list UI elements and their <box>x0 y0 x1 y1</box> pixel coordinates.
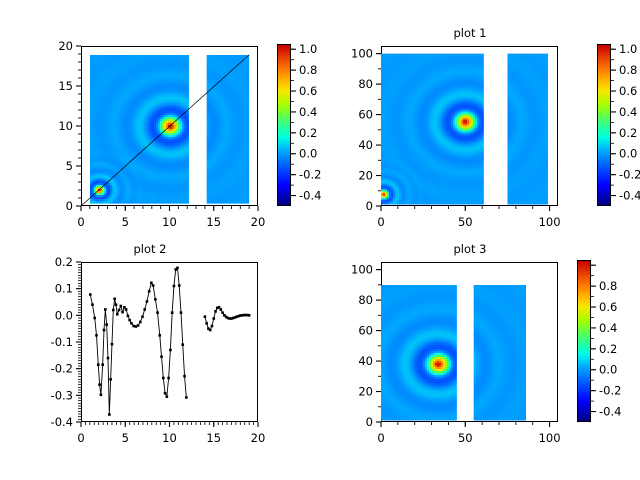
plot-0-xticklabel: 0 <box>77 215 84 229</box>
figure-canvas: 05101520051015201.00.80.60.40.20.0-0.2-0… <box>0 0 640 480</box>
plot-0-yticklabel: 0 <box>66 199 73 213</box>
plot-2-yticklabel: 0.0 <box>55 308 73 322</box>
plot-3-colorbar-label: -0.2 <box>599 384 621 398</box>
plot-1-colorbar-label: 0.8 <box>619 63 637 77</box>
plot-2-marker <box>169 349 172 352</box>
plot-1-colorbar-label: 0.6 <box>619 84 637 98</box>
plot-2-marker <box>91 303 94 306</box>
plot-3-yticklabel: 20 <box>358 385 373 399</box>
plot-2-marker <box>183 375 186 378</box>
plot-3-colorbar-label: 0.4 <box>599 321 617 335</box>
plot-2-marker <box>160 355 163 358</box>
plot-0-colorbar-label: 0.8 <box>299 63 317 77</box>
plot-3-colorbar-ticks: 0.80.60.40.20.0-0.2-0.4 <box>591 265 621 418</box>
plot-2-marker <box>178 284 181 287</box>
plot-2-marker <box>127 315 130 318</box>
plot-2-marker <box>166 395 169 398</box>
plot-2-marker <box>158 334 161 337</box>
plot-0-image <box>90 55 251 205</box>
plot-2-marker <box>167 377 170 380</box>
plot-1-image-panel <box>381 54 485 206</box>
plot-2-marker <box>214 310 217 313</box>
plot-2-marker <box>221 311 224 314</box>
plot-3-colorbar-label: 0.2 <box>599 342 617 356</box>
plot-1-xticklabel: 100 <box>539 215 561 229</box>
plot-2-marker <box>98 383 101 386</box>
plot-2-marker <box>97 363 100 366</box>
plot-2-marker <box>141 315 144 318</box>
plot-2-marker <box>130 322 133 325</box>
plot-1-image-panel <box>507 54 549 206</box>
plot-2-marker <box>148 290 151 293</box>
plot-2-ticks: 051015200.20.10.0-0.1-0.2-0.3-0.4 <box>51 255 266 445</box>
plot-2-marker <box>146 300 149 303</box>
plot-2-xticklabel: 5 <box>122 431 129 445</box>
plot-1-yticklabel: 60 <box>358 108 373 122</box>
plot-2-marker <box>211 325 214 328</box>
plot-2-marker <box>111 343 114 346</box>
plot-2-marker <box>115 303 118 306</box>
plot-2-yticklabel: 0.1 <box>55 282 73 296</box>
plot-2-marker <box>204 315 207 318</box>
plot-2-marker <box>154 298 157 301</box>
plot-3-xticklabel: 100 <box>539 431 561 445</box>
plot-1-yticklabel: 40 <box>358 138 373 152</box>
plot-0-colorbar-label: 0.2 <box>299 126 317 140</box>
plot-0-image-panel <box>90 55 190 205</box>
plot-0-xticklabel: 20 <box>251 215 266 229</box>
plot-0-xticklabel: 15 <box>206 215 221 229</box>
plot-2-yticklabel: 0.2 <box>55 255 73 269</box>
plot-0-colorbar-label: 1.0 <box>299 42 317 56</box>
plot-2-xticklabel: 0 <box>77 431 84 445</box>
plot-1-yticklabel: 0 <box>366 199 373 213</box>
plot-2-marker <box>143 308 146 311</box>
plot-2-marker <box>100 394 103 397</box>
plot-2-marker <box>118 309 121 312</box>
plot-3-image-panel <box>381 285 457 421</box>
plot-1-yticklabel: 20 <box>358 169 373 183</box>
plot-2-marker <box>121 311 124 314</box>
plot-2-marker <box>108 413 111 416</box>
subplot-plot-2: plot 2 051015200.20.10.0-0.1-0.2-0.3-0.4 <box>0 240 320 480</box>
plot-0-colorbar-label: 0.0 <box>299 147 317 161</box>
plot-1-colorbar-ticks: 1.00.80.60.40.20.0-0.2-0.4 <box>611 42 640 202</box>
plot-2-marker <box>104 308 107 311</box>
plot-3-yticklabel: 0 <box>366 415 373 429</box>
plot-2-xticklabel: 15 <box>206 431 221 445</box>
plot-0-colorbar-label: -0.2 <box>299 168 321 182</box>
plot-2-marker <box>248 314 251 317</box>
plot-0-xticklabel: 10 <box>162 215 177 229</box>
plot-1-yticklabel: 100 <box>351 47 373 61</box>
plot-3-xticklabel: 0 <box>377 431 384 445</box>
plot-2-series-0 <box>90 268 186 415</box>
plot-1-xticklabel: 50 <box>458 215 473 229</box>
plot-2-marker <box>181 343 184 346</box>
plot-2-marker <box>209 329 212 332</box>
plot-2-marker <box>171 311 174 314</box>
plot-2-marker <box>137 324 140 327</box>
plot-2-marker <box>156 311 159 314</box>
subplot-plot-1: plot 1 0501000204060801001.00.80.60.40.2… <box>320 0 640 240</box>
plot-0-colorbar-label: -0.4 <box>299 189 321 203</box>
plot-2-marker <box>89 293 92 296</box>
plot-0-colorbar-label: 0.6 <box>299 84 317 98</box>
plot-2-xticklabel: 20 <box>251 431 266 445</box>
plot-1-yticklabel: 80 <box>358 77 373 91</box>
plot-3-canvas: 0501000204060801000.80.60.40.20.0-0.2-0.… <box>320 240 640 480</box>
plot-0-yticklabel: 20 <box>58 39 73 53</box>
plot-1-colorbar-label: 0.0 <box>619 147 637 161</box>
plot-2-marker <box>93 317 96 320</box>
plot-0-image-panel <box>207 55 251 205</box>
plot-1-colorbar-label: -0.2 <box>619 168 640 182</box>
plot-3-yticklabel: 100 <box>351 263 373 277</box>
plot-1-colorbar-label: 1.0 <box>619 42 637 56</box>
plot-3-yticklabel: 80 <box>358 293 373 307</box>
plot-2-marker <box>176 267 179 270</box>
plot-1-canvas: 0501000204060801001.00.80.60.40.20.0-0.2… <box>320 0 640 240</box>
subplot-plot-0: 05101520051015201.00.80.60.40.20.0-0.2-0… <box>0 0 320 240</box>
plot-3-image <box>381 285 528 421</box>
plot-2-marker <box>185 396 188 399</box>
plot-2-marker <box>125 308 128 311</box>
plot-3-image-panel <box>474 285 528 421</box>
plot-0-colorbar <box>277 44 291 206</box>
plot-2-marker <box>95 334 98 337</box>
plot-2-canvas: 051015200.20.10.0-0.1-0.2-0.3-0.4 <box>0 240 320 480</box>
plot-1-image <box>381 54 550 206</box>
plot-2-marker <box>220 308 223 311</box>
plot-2-marker <box>103 329 106 332</box>
plot-3-yticklabel: 60 <box>358 324 373 338</box>
plot-0-canvas: 05101520051015201.00.80.60.40.20.0-0.2-0… <box>0 0 320 240</box>
plot-2-marker <box>205 322 208 325</box>
plot-2-marker <box>212 317 215 320</box>
plot-1-colorbar-label: -0.4 <box>619 189 640 203</box>
plot-0-colorbar-ticks: 1.00.80.60.40.20.0-0.2-0.4 <box>291 42 321 202</box>
plot-2-yticklabel: -0.3 <box>51 388 73 402</box>
plot-0-yticklabel: 5 <box>66 159 73 173</box>
plot-2-marker <box>180 311 183 314</box>
plot-2-marker <box>150 282 153 285</box>
plot-2-marker <box>164 392 167 395</box>
plot-1-colorbar-label: 0.4 <box>619 105 637 119</box>
subplot-plot-3: plot 3 0501000204060801000.80.60.40.20.0… <box>320 240 640 480</box>
plot-2-yticklabel: -0.4 <box>51 415 73 429</box>
plot-2-marker <box>105 323 108 326</box>
plot-2-marker <box>173 285 176 288</box>
plot-0-xticklabel: 5 <box>122 215 129 229</box>
plot-3-colorbar-label: 0.6 <box>599 300 617 314</box>
plot-3-xticklabel: 50 <box>458 431 473 445</box>
plot-1-colorbar <box>597 44 611 206</box>
plot-2-marker <box>139 321 142 324</box>
plot-2-marker <box>112 309 115 312</box>
plot-2-marker <box>109 378 112 381</box>
plot-3-colorbar-label: 0.0 <box>599 363 617 377</box>
plot-0-colorbar-label: 0.4 <box>299 105 317 119</box>
plot-3-colorbar-label: 0.8 <box>599 279 617 293</box>
plot-2-xticklabel: 10 <box>162 431 177 445</box>
plot-2-marker <box>107 357 110 360</box>
plot-1-xticklabel: 0 <box>377 215 384 229</box>
plot-2-marker <box>120 305 123 308</box>
plot-2-marker <box>116 313 119 316</box>
plot-3-colorbar <box>577 260 591 422</box>
plot-1-colorbar-label: 0.2 <box>619 126 637 140</box>
plot-3-colorbar-label: -0.4 <box>599 405 621 419</box>
plot-0-yticklabel: 10 <box>58 119 73 133</box>
plot-2-yticklabel: -0.1 <box>51 335 73 349</box>
plot-2-yticklabel: -0.2 <box>51 362 73 376</box>
plot-2-marker <box>162 377 165 380</box>
plot-2-marker <box>128 319 131 322</box>
plot-0-yticklabel: 15 <box>58 79 73 93</box>
plot-2-marker <box>113 298 116 301</box>
plot-2-marker <box>152 284 155 287</box>
plot-2-marker <box>101 363 104 366</box>
plot-3-yticklabel: 40 <box>358 354 373 368</box>
